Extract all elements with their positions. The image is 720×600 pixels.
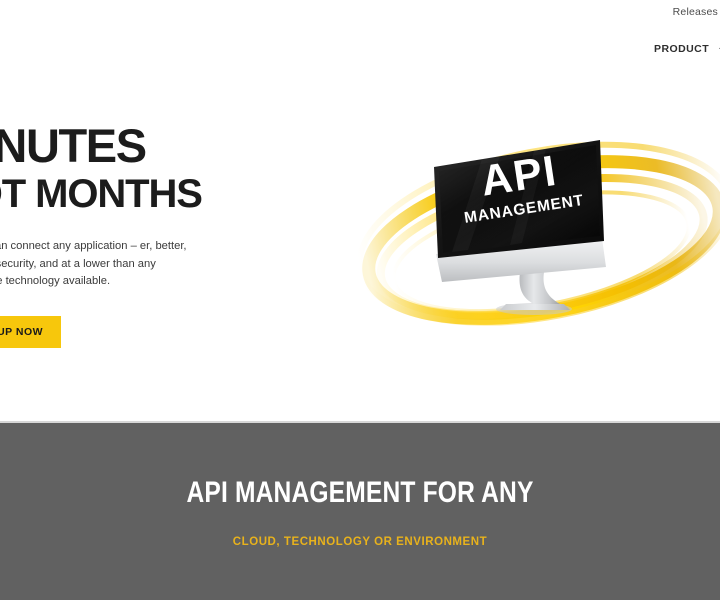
monitor-base (500, 304, 570, 310)
hero-visual: API MANAGEMENT (358, 120, 720, 385)
gray-band-section: API MANAGEMENT FOR ANY CLOUD, TECHNOLOGY… (0, 421, 720, 600)
sign-up-now-button[interactable]: SIGN UP NOW (0, 316, 61, 348)
utility-navbar: Releases (0, 0, 720, 28)
monitor-stand (520, 272, 560, 304)
imac-monitor-graphic: API MANAGEMENT (430, 126, 630, 326)
nav-item-product[interactable]: PRODUCT (654, 43, 709, 55)
band-subheading-wrapper: CLOUD, TECHNOLOGY OR ENVIRONMENT (0, 532, 720, 550)
hero-heading: MINUTES NOT MONTHS (0, 122, 244, 215)
hero-copy-column: MINUTES NOT MONTHS software can connect … (0, 122, 244, 348)
hero-section: MINUTES NOT MONTHS software can connect … (0, 65, 720, 421)
hero-paragraph: software can connect any application – e… (0, 238, 196, 291)
main-navbar: PRODUCT · KN (0, 43, 720, 65)
page-viewport: Releases PRODUCT · KN MINUTES NOT MONTHS… (0, 0, 720, 600)
utility-navbar-links: Releases (673, 6, 718, 18)
util-link-releases[interactable]: Releases (673, 6, 718, 18)
hero-heading-line-1: MINUTES (0, 119, 146, 172)
hero-heading-line-2: NOT MONTHS (0, 174, 244, 216)
band-heading: API MANAGEMENT FOR ANY (65, 476, 655, 510)
main-navbar-links: PRODUCT · KN (654, 43, 720, 55)
band-subheading: CLOUD, TECHNOLOGY OR ENVIRONMENT (233, 536, 487, 548)
